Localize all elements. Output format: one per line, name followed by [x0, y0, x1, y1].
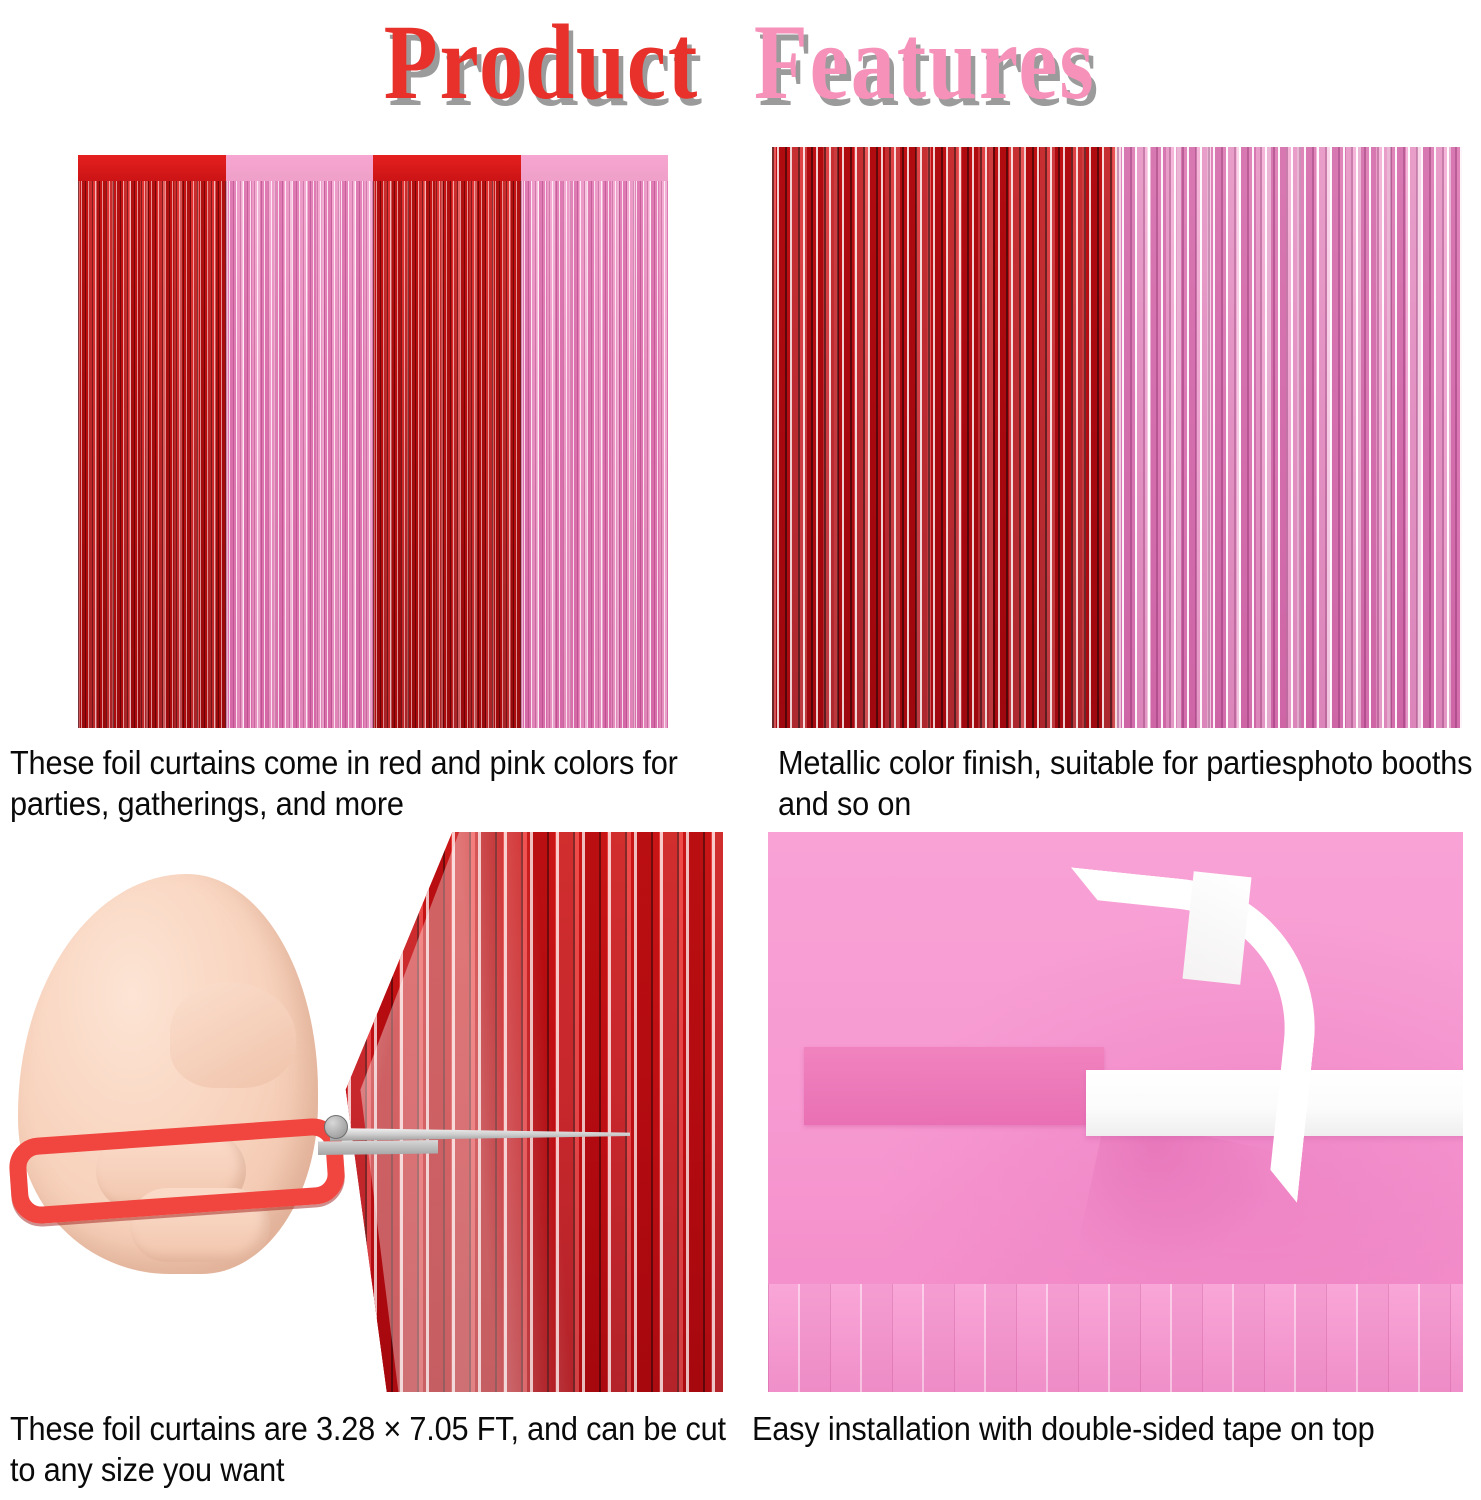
tape-peel-tip: [1183, 871, 1252, 984]
page-title: ProductFeatures: [0, 4, 1481, 110]
red-foil-curtain: [313, 832, 723, 1392]
pink-fringe-strands: [768, 1284, 1463, 1392]
title-word-features: Features: [754, 4, 1096, 120]
title-word-product: Product: [384, 4, 699, 120]
caption-tape-install: Easy installation with double-sided tape…: [752, 1408, 1481, 1449]
scissors-blade-lower: [318, 1140, 438, 1155]
curtain-header-band: [78, 155, 226, 181]
curtain-header-band: [373, 155, 521, 181]
product-image-metallic-closeup: [772, 147, 1462, 728]
curtain-panel-red-2: [373, 155, 521, 728]
caption-metallic-finish: Metallic color finish, suitable for part…: [778, 742, 1481, 824]
curtain-panel-red-1: [78, 155, 226, 728]
caption-four-curtains: These foil curtains come in red and pink…: [10, 742, 745, 824]
scissors-pivot-screw: [324, 1115, 348, 1139]
product-image-tape-install: [768, 832, 1463, 1392]
caption-size-and-cutting: These foil curtains are 3.28 × 7.05 FT, …: [10, 1408, 745, 1490]
curtain-closeup-red: [772, 147, 1117, 728]
curtain-header-band: [521, 155, 669, 181]
curtain-closeup-pink: [1117, 147, 1462, 728]
product-image-four-curtains: [78, 155, 668, 728]
curtain-header-band: [226, 155, 374, 181]
product-image-cutting-demo: [0, 832, 723, 1392]
curtain-panel-pink-1: [226, 155, 374, 728]
curtain-panel-pink-2: [521, 155, 669, 728]
